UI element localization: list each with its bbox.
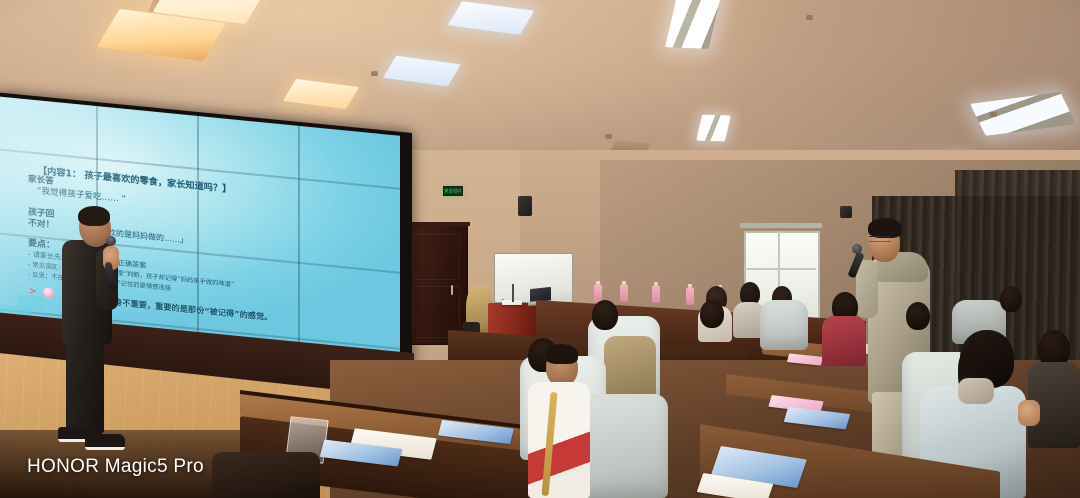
window-header-trim bbox=[740, 223, 822, 228]
ceiling-light-panel bbox=[696, 114, 731, 141]
audience-torso bbox=[604, 336, 656, 396]
door-handle[interactable] bbox=[451, 285, 453, 295]
audience-chair[interactable] bbox=[760, 300, 808, 350]
exit-sign: 安全出口 bbox=[443, 186, 463, 196]
speaker-legs bbox=[66, 330, 104, 434]
water-bottle bbox=[620, 284, 628, 302]
wall-speaker bbox=[840, 206, 852, 218]
questioner-hair bbox=[868, 218, 902, 238]
sprinkler-head bbox=[806, 15, 813, 20]
water-bottle bbox=[594, 284, 602, 302]
water-bottle bbox=[652, 285, 660, 303]
speaker-shoe bbox=[85, 434, 125, 450]
foreground-chair[interactable] bbox=[212, 452, 320, 498]
sprinkler-head bbox=[990, 112, 997, 117]
water-bottle bbox=[686, 287, 694, 305]
sprinkler-head bbox=[371, 71, 378, 76]
sprinkler-head bbox=[605, 134, 612, 139]
speaker-hair bbox=[78, 206, 110, 226]
audience-hand bbox=[1018, 400, 1040, 426]
wall-speaker bbox=[518, 196, 532, 216]
mic-stand bbox=[512, 284, 514, 302]
woman-scarf bbox=[958, 378, 994, 404]
audience-head bbox=[592, 300, 618, 330]
student-tracksuit bbox=[528, 382, 590, 498]
exit-sign-label: 安全出口 bbox=[444, 189, 461, 193]
glasses-icon bbox=[869, 236, 891, 242]
audience-head bbox=[1000, 286, 1022, 312]
questioner-arm bbox=[856, 260, 878, 318]
audience-head bbox=[700, 300, 724, 328]
student-hair bbox=[545, 344, 578, 364]
audience-torso bbox=[822, 316, 866, 366]
camera-watermark: HONOR Magic5 Pro bbox=[27, 456, 204, 478]
door-panel bbox=[412, 234, 460, 280]
window-mullion bbox=[744, 268, 816, 270]
photo-scene: 安全出口 【内容1： 孩子最喜欢的零食，家长知道吗？】 家长答 bbox=[0, 0, 1080, 498]
microphone-head bbox=[106, 236, 116, 246]
microphone-head bbox=[852, 244, 862, 254]
audience-head bbox=[906, 302, 930, 330]
